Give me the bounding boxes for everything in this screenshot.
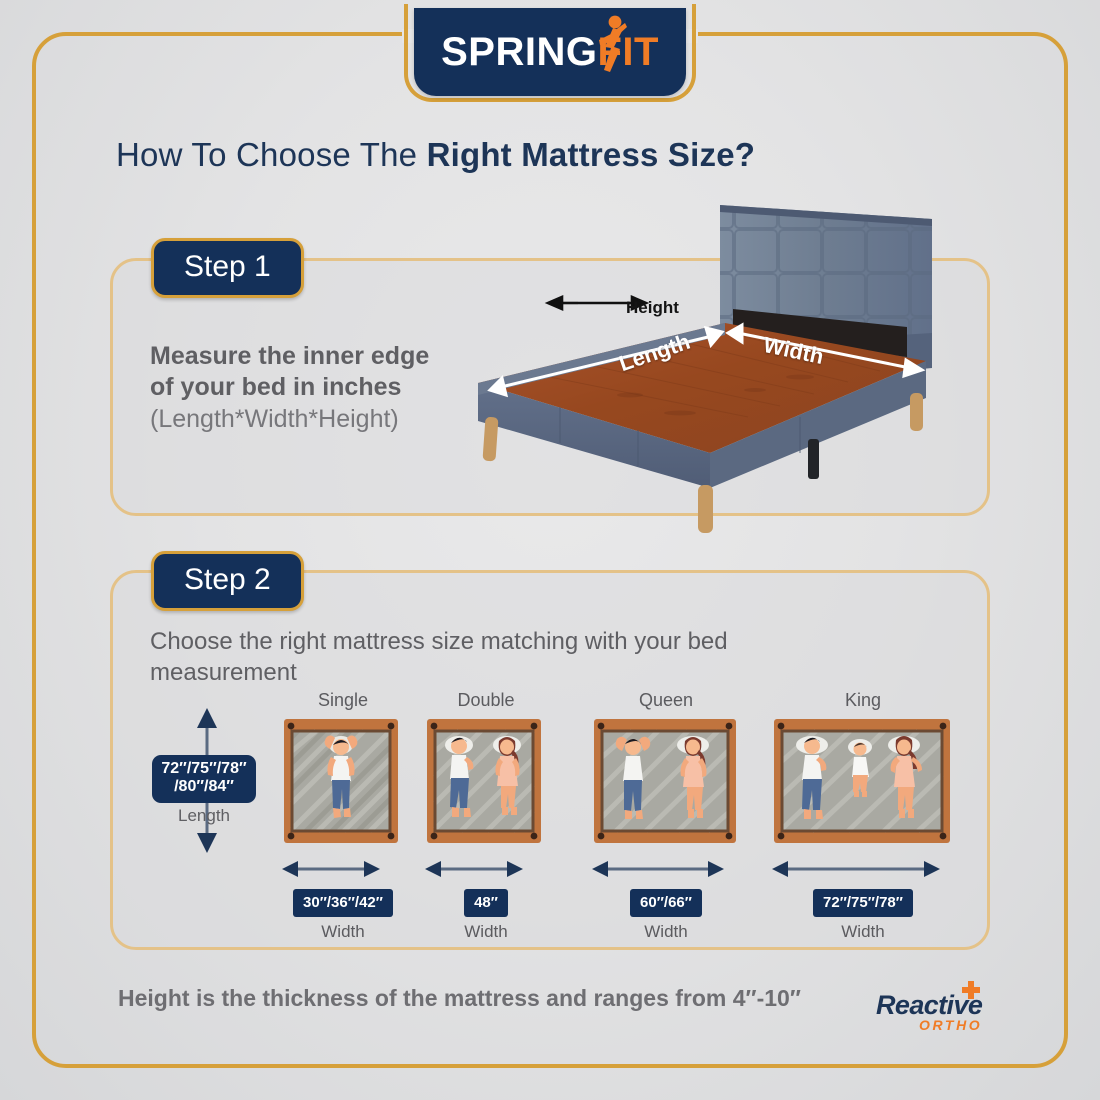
medical-cross-icon <box>960 977 982 1008</box>
width-arrow-icon-double <box>425 860 547 883</box>
length-value-line-2: /80″/84″ <box>154 778 254 796</box>
width-arrow-icon-king <box>772 860 954 883</box>
footer-note: Height is the thickness of the mattress … <box>118 985 801 1012</box>
step-1-line-3: (Length*Width*Height) <box>150 404 480 435</box>
width-value-queen: 60″/66″ <box>630 889 702 917</box>
width-caption-single: Width <box>282 922 404 942</box>
step-2-line-1: Choose the right mattress size matching … <box>150 627 880 658</box>
step-1-line-2: of your bed in inches <box>150 372 480 403</box>
bed-illustration <box>470 185 990 535</box>
mattress-figure-queen <box>592 717 740 850</box>
mattress-title-queen: Queen <box>592 690 740 711</box>
mattress-panel-single[interactable]: Single <box>282 690 404 942</box>
reactive-ortho-wordmark: Reactive <box>876 990 982 1021</box>
mattress-title-single: Single <box>282 690 404 711</box>
reactive-ortho-logo[interactable]: Reactive ORTHO <box>876 990 982 1033</box>
mattress-figure-double <box>425 717 547 850</box>
length-caption: Length <box>152 806 256 826</box>
mattress-panel-queen[interactable]: Queen <box>592 690 740 942</box>
mattress-panel-double[interactable]: Double <box>425 690 547 942</box>
step-2-instructions: Choose the right mattress size matching … <box>150 627 880 688</box>
width-value-king: 72″/75″/78″ <box>813 889 913 917</box>
step-2-line-2: measurement <box>150 658 880 689</box>
step-2-badge: Step 2 <box>151 551 304 611</box>
brand-logo[interactable]: SPRINGFIT <box>414 8 686 96</box>
step-1-line-1: Measure the inner edge <box>150 341 480 372</box>
width-caption-queen: Width <box>592 922 740 942</box>
step-1-instructions: Measure the inner edge of your bed in in… <box>150 341 480 435</box>
width-arrow-icon-queen <box>592 860 740 883</box>
mattress-title-king: King <box>772 690 954 711</box>
length-value-line-1: 72″/75″/78″ <box>154 760 254 778</box>
running-figure-icon <box>594 14 628 86</box>
page-title-emphasis: Right Mattress Size? <box>427 136 756 173</box>
width-caption-king: Width <box>772 922 954 942</box>
page-title-prefix: How To Choose The <box>116 136 427 173</box>
width-value-double: 48″ <box>464 889 508 917</box>
page-title: How To Choose The Right Mattress Size? <box>116 136 755 174</box>
mattress-figure-single <box>282 717 404 850</box>
mattress-panel-king[interactable]: King <box>772 690 954 942</box>
length-value-badge: 72″/75″/78″ /80″/84″ <box>152 755 256 803</box>
logo-primary-text: SPRING <box>441 30 597 74</box>
length-indicator: 72″/75″/78″ /80″/84″ Length <box>152 708 260 853</box>
width-arrow-icon-single <box>282 860 404 883</box>
width-caption-double: Width <box>425 922 547 942</box>
mattress-figure-king <box>772 717 954 850</box>
bed-label-height: Height <box>626 298 679 318</box>
step-1-badge: Step 1 <box>151 238 304 298</box>
mattress-title-double: Double <box>425 690 547 711</box>
width-value-single: 30″/36″/42″ <box>293 889 393 917</box>
